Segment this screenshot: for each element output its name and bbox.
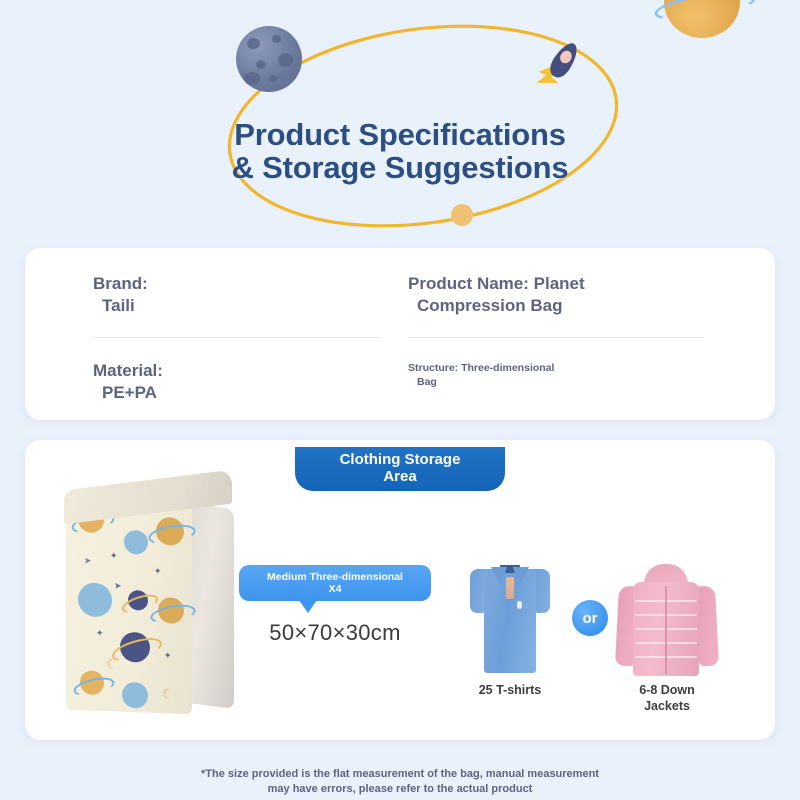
spec-brand-label: Brand: [93,274,148,293]
size-badge: Medium Three-dimensional X4 [239,565,431,601]
disclaimer-note: *The size provided is the flat measureme… [0,767,800,797]
spec-divider-left [93,337,381,338]
tab-label-line1: Clothing Storage [340,451,461,468]
infographic-page: Product Specifications & Storage Suggest… [0,0,800,800]
jacket-capacity-label: 6-8 Down Jackets [597,683,737,714]
spec-brand: Brand: Taili [93,273,148,318]
specifications-card: Brand: Taili Product Name: Planet Compre… [25,248,775,420]
or-separator: or [572,600,608,636]
disclaimer-line2: may have errors, please refer to the act… [0,782,800,797]
page-title-line2: & Storage Suggestions [0,151,800,184]
spec-structure-label: Structure: Three-dimensional [408,362,554,374]
size-dimensions: 50×70×30cm [239,620,431,646]
disclaimer-line1: *The size provided is the flat measureme… [201,768,599,780]
spec-product-name-label: Product Name: Planet [408,274,585,293]
clothing-storage-area-tab: Clothing Storage Area [295,447,505,491]
spec-divider-right [408,337,704,338]
page-title: Product Specifications & Storage Suggest… [0,118,800,185]
spec-structure: Structure: Three-dimensional Bag [408,362,554,390]
spec-structure-value: Bag [408,376,554,390]
down-jacket-image [617,560,717,682]
spec-product-name-value: Compression Bag [408,295,585,317]
page-title-line1: Product Specifications [234,117,566,152]
size-badge-line1: Medium Three-dimensional [267,571,403,583]
jacket-capacity-line1: 6-8 Down [639,683,695,697]
or-label: or [583,610,598,627]
polo-shirt-image [470,555,550,675]
badge-pointer-icon [299,600,317,613]
spec-material-label: Material: [93,361,163,380]
product-bag-image: ✦ ✦ ✦ ✦ ✦ ☾ ☾ ➤ ➤ [48,470,238,720]
spec-brand-value: Taili [93,295,148,317]
spec-material-value: PE+PA [93,382,163,404]
tab-label-line2: Area [383,468,416,485]
jacket-capacity-line2: Jackets [597,699,737,715]
size-badge-line2: X4 [329,583,342,595]
tshirt-capacity-label: 25 T-shirts [440,683,580,699]
spec-product-name: Product Name: Planet Compression Bag [408,273,585,318]
spec-material: Material: PE+PA [93,360,163,405]
